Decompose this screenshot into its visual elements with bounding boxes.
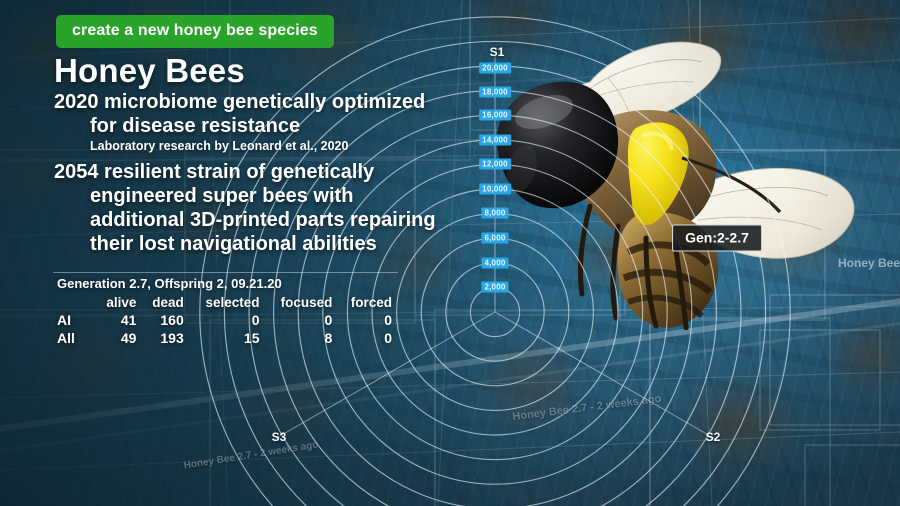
stats-row-all-forced: 0 [338, 329, 398, 347]
entry-2054-line-1: 2054 resilient strain of genetically [54, 160, 436, 184]
table-row: All 49 193 15 8 0 [53, 329, 398, 347]
timeline-entry-2020: 2020 microbiome genetically optimized fo… [54, 90, 425, 154]
stats-row-all-dead: 193 [142, 329, 189, 347]
radar-axis-label-s1: S1 [490, 45, 505, 59]
entry-2020-line-1: 2020 microbiome genetically optimized [54, 90, 425, 114]
stats-row-ai-focused: 0 [265, 311, 338, 329]
generation-stats-panel: Generation 2.7, Offspring 2, 09.21.20 al… [53, 272, 398, 347]
stats-header-row: alive dead selected focused forced [53, 294, 398, 311]
radar-tick-10000: 10,000 [479, 184, 511, 195]
stats-row-all-selected: 15 [190, 329, 266, 347]
radar-tick-12000: 12,000 [479, 159, 511, 170]
stats-caption: Generation 2.7, Offspring 2, 09.21.20 [53, 272, 398, 294]
radar-tick-14000: 14,000 [479, 135, 511, 146]
stats-row-all-focused: 8 [265, 329, 338, 347]
radar-axis-label-s2: S2 [706, 430, 721, 444]
create-species-badge[interactable]: create a new honey bee species [56, 15, 334, 48]
stats-col-selected: selected [190, 294, 266, 311]
radar-tick-8000: 8,000 [481, 208, 508, 219]
entry-2054-line-2: engineered super bees with [54, 184, 436, 208]
radar-tick-6000: 6,000 [481, 233, 508, 244]
radar-tick-18000: 18,000 [479, 87, 511, 98]
stats-row-ai-alive: 41 [97, 311, 142, 329]
background-honey-bee-sign: Honey Bee [838, 256, 900, 270]
page-title: Honey Bees [54, 52, 245, 90]
radar-axis-label-s3: S3 [272, 430, 287, 444]
stats-row-ai-dead: 160 [142, 311, 189, 329]
stats-col-alive: alive [97, 294, 142, 311]
timeline-entry-2054: 2054 resilient strain of genetically eng… [54, 160, 436, 256]
entry-2054-line-4: their lost navigational abilities [54, 232, 436, 256]
radar-tick-4000: 4,000 [481, 258, 508, 269]
stats-table: alive dead selected focused forced AI 41… [53, 294, 398, 347]
stats-row-ai-selected: 0 [190, 311, 266, 329]
radar-tick-2000: 2,000 [481, 282, 508, 293]
entry-2020-line-2: for disease resistance [54, 114, 425, 138]
radar-tick-20000: 20,000 [479, 63, 511, 74]
entry-2020-citation: Laboratory research by Leonard et al., 2… [54, 138, 425, 154]
stats-row-all-label: All [53, 329, 97, 347]
radar-tick-16000: 16,000 [479, 110, 511, 121]
stats-row-all-alive: 49 [97, 329, 142, 347]
presentation-canvas: S1 S2 S3 2,000 4,000 6,000 8,000 10,000 … [0, 0, 900, 506]
generation-annotation-chip[interactable]: Gen:2-2.7 [672, 225, 762, 252]
stats-col-group [53, 294, 97, 311]
stats-col-focused: focused [265, 294, 338, 311]
table-row: AI 41 160 0 0 0 [53, 311, 398, 329]
stats-row-ai-forced: 0 [338, 311, 398, 329]
stats-col-forced: forced [338, 294, 398, 311]
stats-row-ai-label: AI [53, 311, 97, 329]
entry-2054-line-3: additional 3D-printed parts repairing [54, 208, 436, 232]
stats-col-dead: dead [142, 294, 189, 311]
